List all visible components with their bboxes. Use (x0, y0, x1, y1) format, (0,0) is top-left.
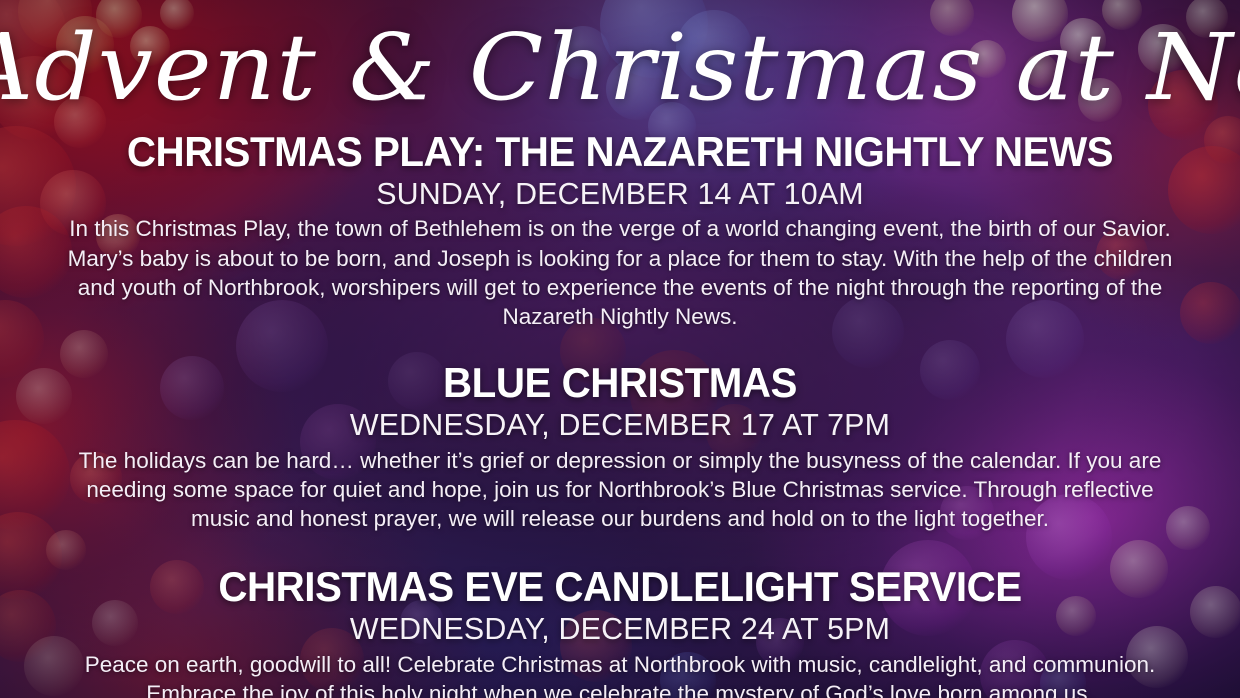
event-date: WEDNESDAY, DECEMBER 17 AT 7PM (12, 406, 1227, 444)
event-date: WEDNESDAY, DECEMBER 24 AT 5PM (12, 610, 1227, 648)
slide-content: Advent & Christmas at Northbrook CHRISTM… (0, 0, 1240, 698)
event-heading: CHRISTMAS EVE CANDLELIGHT SERVICE (25, 565, 1215, 610)
event-block-christmas-play: CHRISTMAS PLAY: THE NAZARETH NIGHTLY NEW… (0, 130, 1240, 331)
event-block-blue-christmas: BLUE CHRISTMAS WEDNESDAY, DECEMBER 17 AT… (0, 361, 1240, 533)
event-description: In this Christmas Play, the town of Beth… (60, 214, 1180, 331)
event-description: Peace on earth, goodwill to all! Celebra… (60, 650, 1180, 698)
christmas-announcement-slide: Advent & Christmas at Northbrook CHRISTM… (0, 0, 1240, 698)
event-heading: CHRISTMAS PLAY: THE NAZARETH NIGHTLY NEW… (25, 130, 1215, 175)
event-block-christmas-eve-candlelight: CHRISTMAS EVE CANDLELIGHT SERVICE WEDNES… (0, 565, 1240, 698)
event-heading: BLUE CHRISTMAS (25, 361, 1215, 406)
event-date: SUNDAY, DECEMBER 14 AT 10AM (12, 175, 1227, 213)
page-title: Advent & Christmas at Northbrook (0, 0, 1240, 114)
event-description: The holidays can be hard… whether it’s g… (60, 446, 1180, 534)
